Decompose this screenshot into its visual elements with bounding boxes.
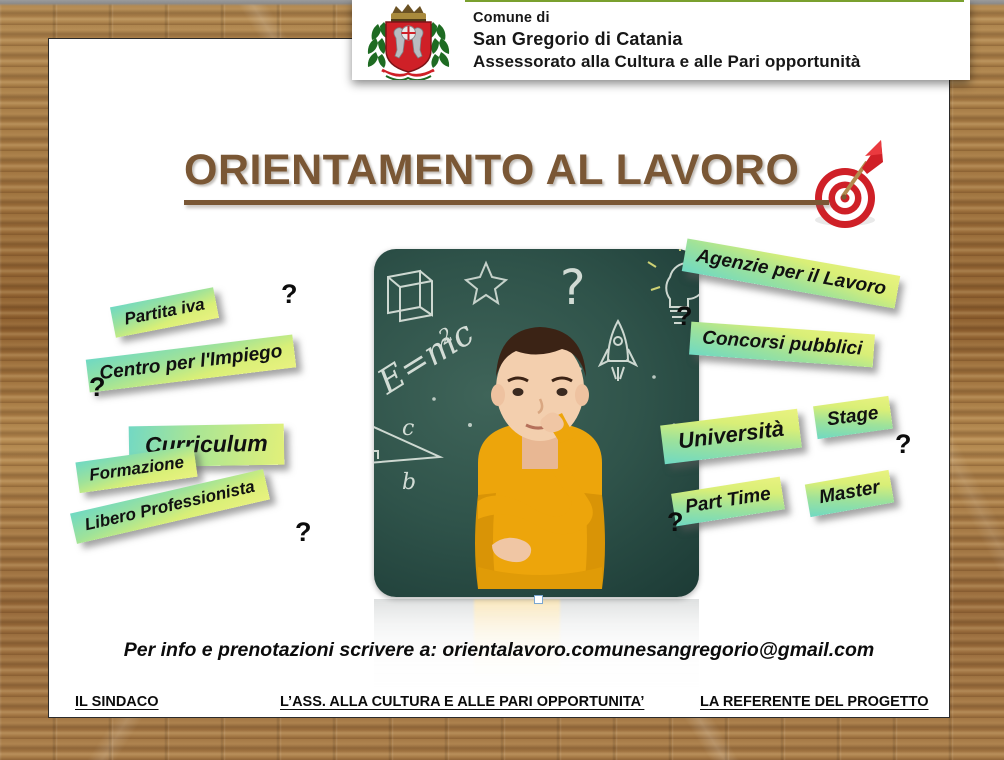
chip-label: Formazione bbox=[88, 452, 185, 484]
page-title: ORIENTAMENTO AL LAVORO bbox=[184, 149, 824, 198]
chip-label: Concorsi pubblici bbox=[702, 327, 864, 359]
thinking-boy-chalkboard-photo: ? E=mc 2 c b bbox=[374, 249, 699, 597]
chip-centro-per-limpiego[interactable]: Centro per l'Impiego bbox=[86, 334, 296, 392]
signature-block-sindaco: IL SINDACO Dott. Carmelo Corsaro bbox=[75, 694, 280, 718]
svg-text:E=mc: E=mc bbox=[374, 313, 481, 403]
contact-line: Per info e prenotazioni scrivere a: orie… bbox=[49, 639, 949, 662]
star-drawing-icon bbox=[466, 263, 506, 303]
chip-label: Stage bbox=[826, 403, 880, 431]
header-line-department: Assessorato alla Cultura e alle Pari opp… bbox=[473, 51, 966, 73]
institutional-header: Comune di San Gregorio di Catania Assess… bbox=[352, 0, 970, 80]
header-accent-rule bbox=[382, 0, 964, 2]
chalk-question-mark: ? bbox=[560, 260, 585, 316]
question-mark-4: ? bbox=[676, 301, 693, 332]
header-line-city: San Gregorio di Catania bbox=[473, 28, 966, 51]
chip-concorsi-pubblici[interactable]: Concorsi pubblici bbox=[689, 322, 875, 368]
signature-block-assessore: L’ASS. ALLA CULTURA E ALLE PARI OPPORTUN… bbox=[280, 694, 700, 718]
chip-formazione[interactable]: Formazione bbox=[75, 446, 198, 493]
chip-stage[interactable]: Stage bbox=[813, 396, 893, 439]
poster-background: ORIENTAMENTO AL LAVORO bbox=[0, 0, 1004, 760]
svg-text:b: b bbox=[402, 470, 416, 495]
question-mark-3: ? bbox=[295, 517, 312, 548]
header-text-block: Comune di San Gregorio di Catania Assess… bbox=[465, 0, 970, 80]
question-mark-6: ? bbox=[667, 507, 684, 538]
title-underline bbox=[184, 200, 829, 205]
cube-drawing-icon bbox=[388, 271, 432, 321]
signature-block-referente: LA REFERENTE DEL PROGETTO Dott.ssa Rita … bbox=[700, 694, 950, 718]
question-mark-2: ? bbox=[89, 372, 106, 403]
rocket-drawing-icon bbox=[600, 321, 636, 381]
chip-master[interactable]: Master bbox=[805, 470, 895, 517]
svg-text:?: ? bbox=[560, 260, 585, 316]
signature-role: IL SINDACO bbox=[75, 694, 280, 710]
signatures-row: IL SINDACO Dott. Carmelo Corsaro L’ASS. … bbox=[75, 694, 950, 718]
chip-label: Agenzie per il Lavoro bbox=[695, 245, 888, 299]
chip-agenzie-per-il-lavoro[interactable]: Agenzie per il Lavoro bbox=[682, 238, 901, 308]
chalk-equation: E=mc 2 bbox=[374, 313, 481, 403]
signature-role: LA REFERENTE DEL PROGETTO bbox=[700, 694, 950, 710]
chip-label: Università bbox=[677, 416, 786, 454]
svg-text:c: c bbox=[402, 416, 414, 441]
chip-partita-iva[interactable]: Partita iva bbox=[110, 287, 219, 338]
question-mark-5: ? bbox=[895, 429, 912, 460]
coat-of-arms-icon bbox=[352, 0, 465, 80]
question-mark-1: ? bbox=[281, 279, 298, 310]
chip-label: Partita iva bbox=[123, 294, 206, 328]
chip-label: Master bbox=[817, 477, 881, 508]
chip-label: Centro per l'Impiego bbox=[98, 341, 283, 384]
header-line-comune: Comune di bbox=[473, 9, 966, 28]
poster-title-block: ORIENTAMENTO AL LAVORO bbox=[184, 149, 824, 205]
poster-panel: ORIENTAMENTO AL LAVORO bbox=[48, 38, 950, 718]
signature-role: L’ASS. ALLA CULTURA E ALLE PARI OPPORTUN… bbox=[280, 694, 700, 710]
selection-handle[interactable] bbox=[534, 595, 543, 604]
